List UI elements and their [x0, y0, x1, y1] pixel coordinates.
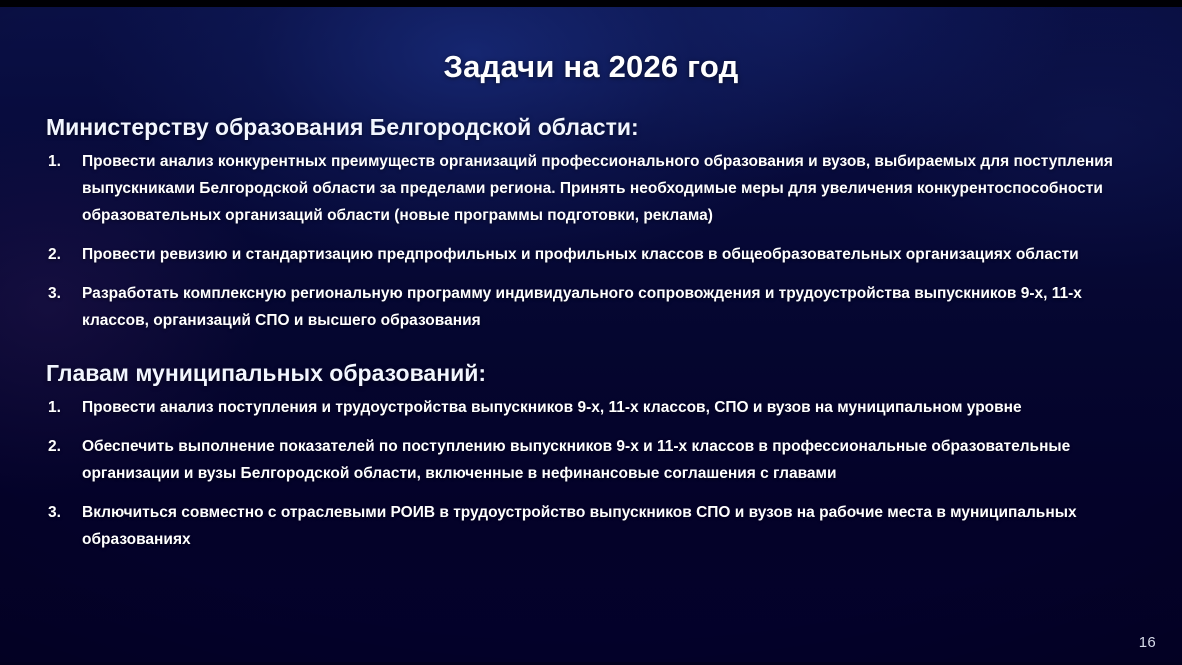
list-item-number: 3. [48, 499, 72, 526]
page-number: 16 [1139, 634, 1156, 651]
list-item: 1. Провести анализ конкурентных преимуще… [46, 148, 1128, 229]
section-municipal-heads: Главам муниципальных образований: 1. Про… [46, 358, 1128, 553]
list-item: 1. Провести анализ поступления и трудоус… [46, 394, 1128, 421]
task-list-ministry: 1. Провести анализ конкурентных преимуще… [46, 148, 1128, 334]
list-item: 2. Обеспечить выполнение показателей по … [46, 433, 1128, 487]
list-item-text: Провести анализ поступления и трудоустро… [82, 394, 1128, 421]
list-item-number: 2. [48, 241, 72, 268]
list-item: 2. Провести ревизию и стандартизацию пре… [46, 241, 1128, 268]
presentation-slide: Задачи на 2026 год Министерству образова… [0, 0, 1182, 665]
slide-title: Задачи на 2026 год [0, 49, 1182, 85]
slide-content: Задачи на 2026 год Министерству образова… [0, 0, 1182, 665]
task-list-municipal-heads: 1. Провести анализ поступления и трудоус… [46, 394, 1128, 553]
list-item-text: Разработать комплексную региональную про… [82, 280, 1128, 334]
slide-body: Министерству образования Белгородской об… [46, 112, 1128, 559]
list-item-number: 1. [48, 394, 72, 421]
list-item-number: 1. [48, 148, 72, 175]
section-heading-ministry: Министерству образования Белгородской об… [46, 112, 1128, 142]
section-heading-municipal-heads: Главам муниципальных образований: [46, 358, 1128, 388]
section-ministry: Министерству образования Белгородской об… [46, 112, 1128, 334]
list-item: 3. Разработать комплексную региональную … [46, 280, 1128, 334]
list-item-number: 3. [48, 280, 72, 307]
list-item-text: Включиться совместно с отраслевыми РОИВ … [82, 499, 1128, 553]
list-item: 3. Включиться совместно с отраслевыми РО… [46, 499, 1128, 553]
list-item-text: Обеспечить выполнение показателей по пос… [82, 433, 1128, 487]
list-item-text: Провести анализ конкурентных преимуществ… [82, 148, 1128, 229]
list-item-number: 2. [48, 433, 72, 460]
list-item-text: Провести ревизию и стандартизацию предпр… [82, 241, 1128, 268]
